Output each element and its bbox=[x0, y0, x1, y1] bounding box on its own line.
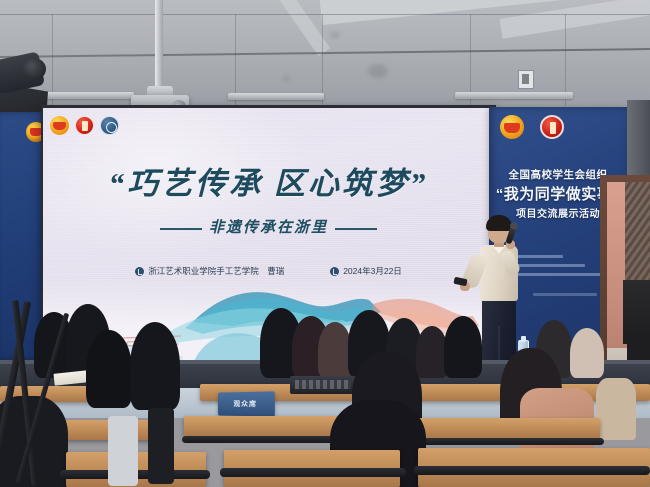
rule-left bbox=[160, 228, 202, 230]
desk-rail bbox=[404, 438, 604, 445]
audience-member bbox=[318, 322, 352, 378]
wall-smudge bbox=[283, 76, 290, 81]
slide-meta-institution-text: 浙江艺术职业学院手工艺学院 曹瑞 bbox=[148, 265, 284, 277]
light-bar-right bbox=[455, 92, 573, 99]
camera-lens-icon bbox=[22, 58, 46, 80]
slide-subtitle-text: 非遗传承在浙里 bbox=[209, 220, 328, 236]
slide-logo-row bbox=[50, 116, 119, 135]
desk-placard: 观众席 bbox=[218, 391, 275, 416]
slide-meta-date: 2024年3月22日 bbox=[330, 265, 402, 277]
wall-smudge bbox=[330, 32, 340, 38]
doorway bbox=[607, 182, 650, 390]
desk-rail bbox=[220, 468, 406, 477]
back-wall bbox=[0, 0, 650, 120]
slide-meta-row: 浙江艺术职业学院手工艺学院 曹瑞 2024年3月22日 bbox=[43, 265, 494, 277]
chair-back-light bbox=[108, 416, 138, 486]
presenter-hair bbox=[486, 215, 512, 231]
red-seal-emblem-icon bbox=[75, 116, 94, 135]
clock-icon bbox=[330, 267, 339, 276]
banner-right-credit bbox=[533, 293, 597, 296]
doorway-railing bbox=[623, 280, 650, 344]
ceiling-beam bbox=[500, 0, 650, 39]
projector-pole bbox=[155, 0, 163, 100]
rule-right bbox=[335, 228, 377, 230]
ceiling-seam bbox=[0, 14, 650, 15]
desk bbox=[410, 418, 600, 439]
youth-league-emblem-icon bbox=[500, 115, 524, 139]
audience-member bbox=[130, 322, 180, 410]
desk-placard-label: 观众席 bbox=[218, 399, 275, 410]
banner-right-logo-row bbox=[500, 115, 564, 139]
audience-member bbox=[444, 316, 482, 378]
chair-back bbox=[148, 408, 174, 484]
youth-league-emblem-icon bbox=[50, 116, 69, 135]
wall-smudge bbox=[368, 64, 388, 78]
red-seal-emblem-icon bbox=[540, 115, 564, 139]
slide-meta-date-text: 2024年3月22日 bbox=[343, 265, 402, 277]
laptop[interactable] bbox=[290, 376, 356, 394]
slide-meta-institution: 浙江艺术职业学院手工艺学院 曹瑞 bbox=[135, 265, 284, 277]
audience-member bbox=[570, 328, 604, 378]
slide-subtitle: 非遗传承在浙里 bbox=[43, 216, 494, 237]
light-bar-left bbox=[42, 92, 134, 99]
wall-plaque-icon bbox=[518, 70, 534, 89]
ceiling-beam bbox=[250, 0, 330, 56]
slide-title: “巧艺传承 区心筑梦” bbox=[43, 158, 494, 203]
lecture-hall-scene: 会组织 实事” 展示活动 “巧艺传承 区心筑梦” 非遗传承在浙里 浙江艺术职业学… bbox=[0, 0, 650, 487]
desk-rail bbox=[414, 466, 650, 475]
light-bar-center bbox=[228, 93, 324, 100]
audience-member bbox=[596, 378, 636, 440]
institution-icon bbox=[135, 267, 144, 276]
audience-member bbox=[86, 330, 132, 408]
blue-institute-emblem-icon bbox=[100, 116, 119, 135]
